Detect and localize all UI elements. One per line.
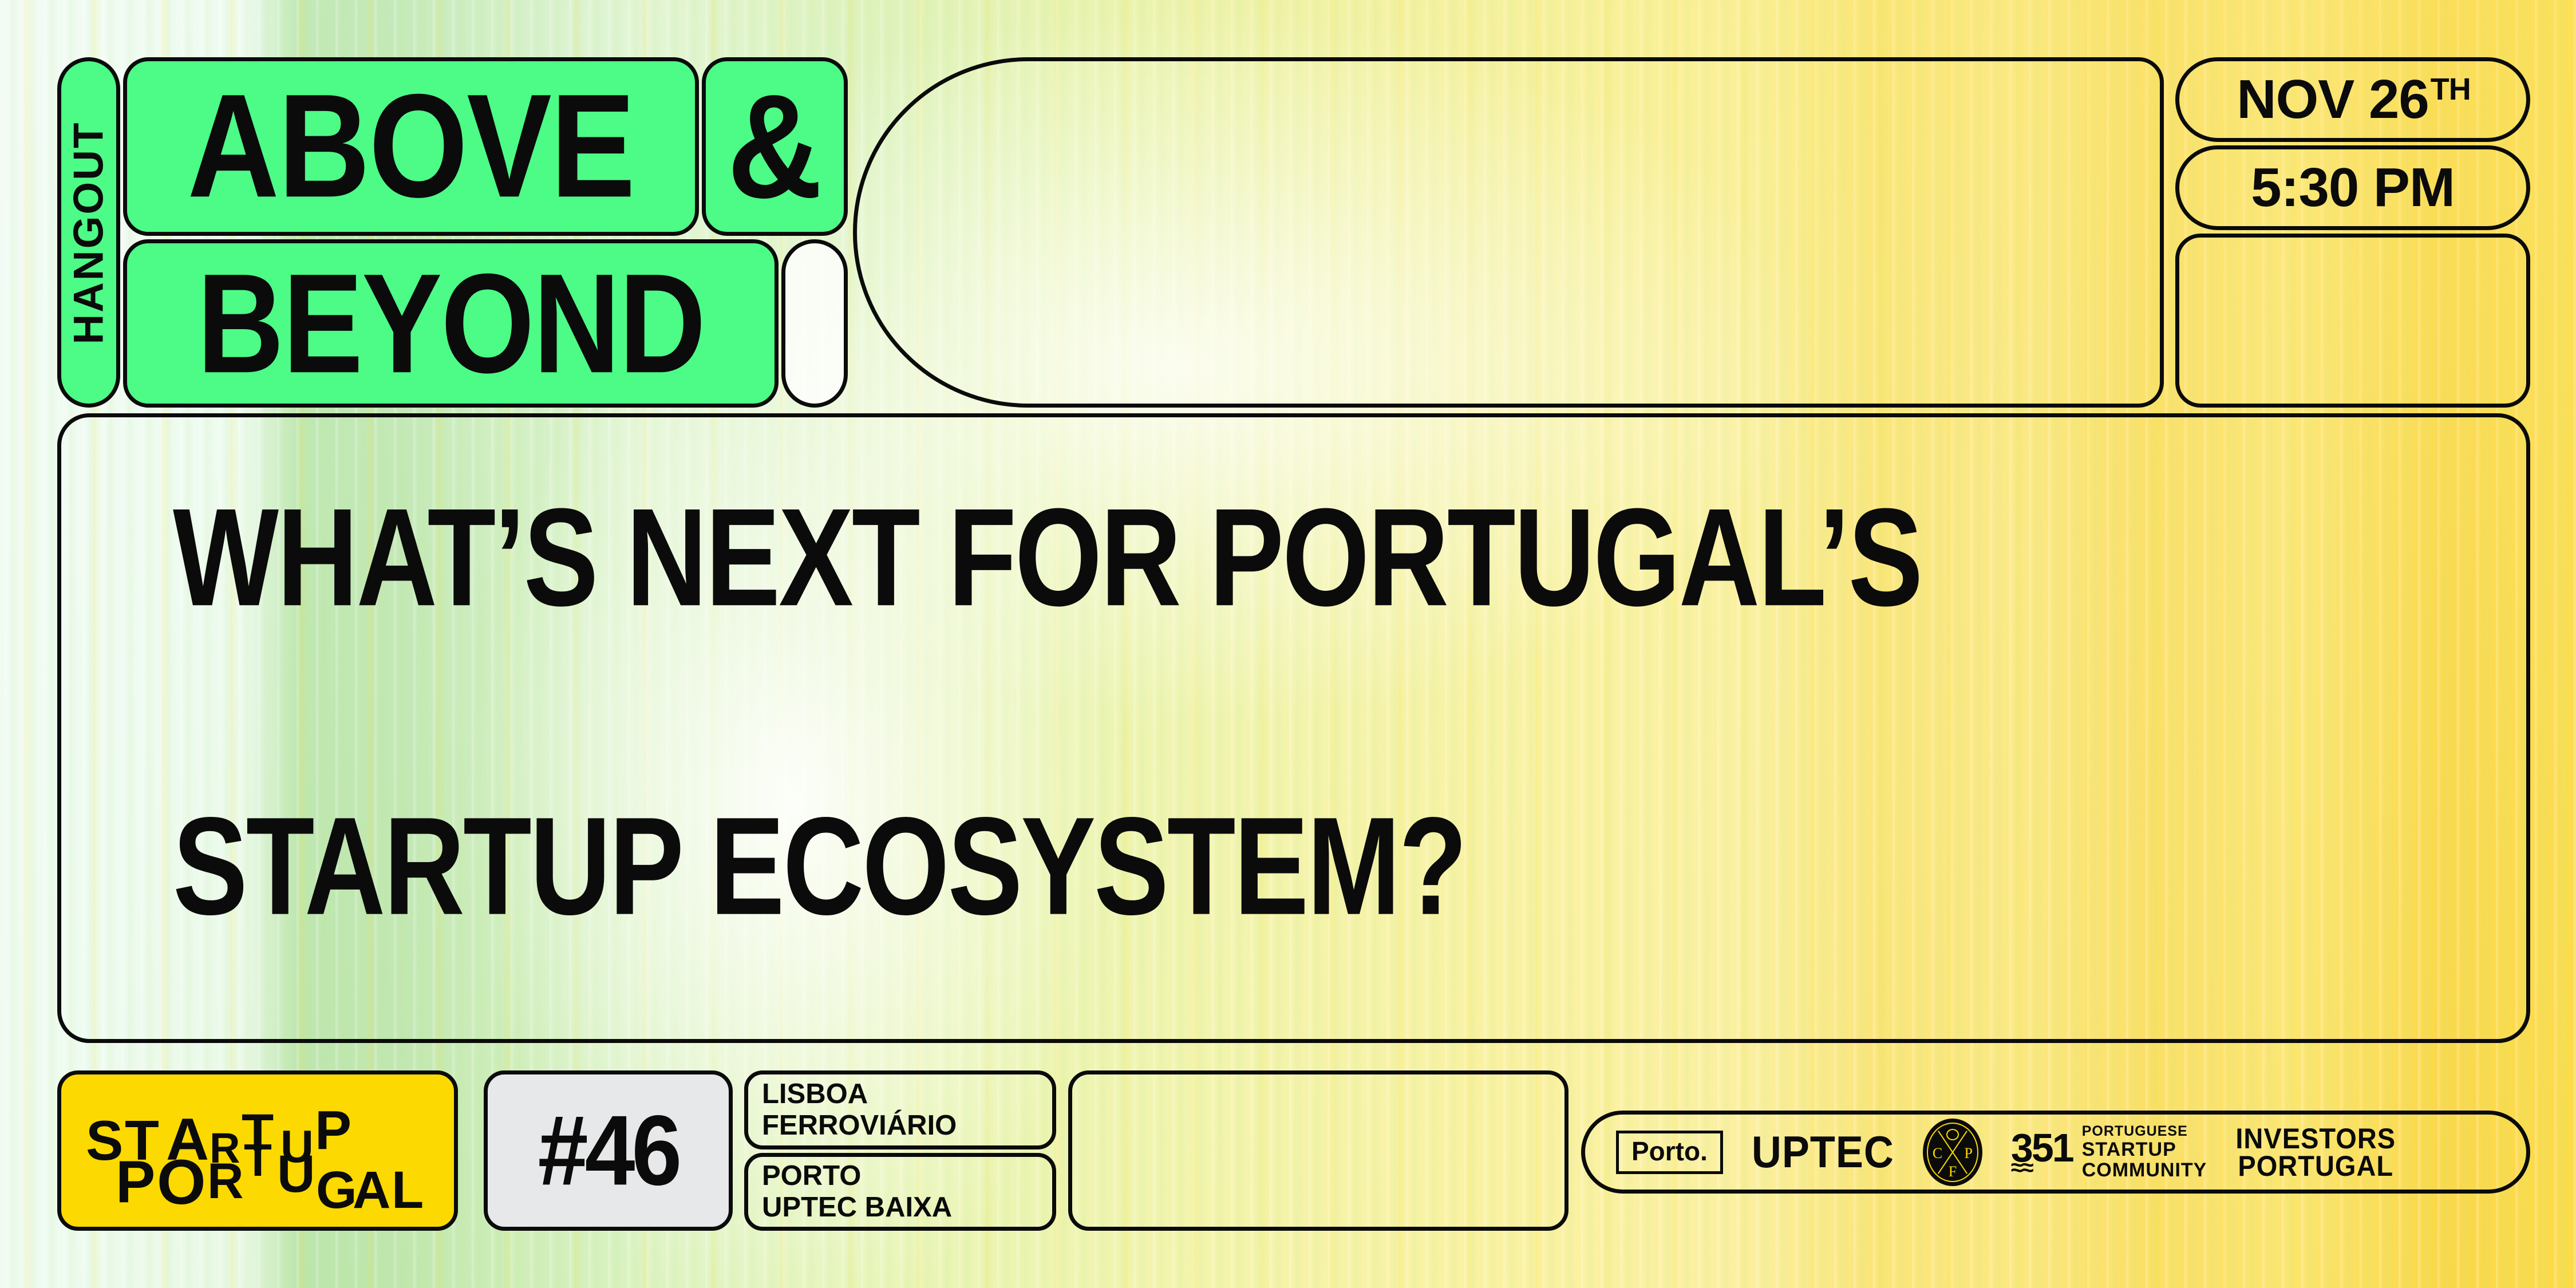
venue-place: FERROVIÁRIO <box>762 1110 1052 1141</box>
venue-lisboa: LISBOA FERROVIÁRIO <box>744 1070 1056 1149</box>
poster-canvas: HANGOUT ABOVE & BEYOND NOV 26TH 5:30 PM <box>0 0 2576 1288</box>
main-headline-panel: WHAT’S NEXT FOR PORTUGAL’S STARTUP ECOSY… <box>57 413 2530 1043</box>
startup-portugal-wordmark: S T A R T U P P O R T U G A L <box>86 1096 429 1205</box>
headline-line-2: STARTUP ECOSYSTEM? <box>173 788 1465 944</box>
wordmark-letter: R <box>207 1156 244 1206</box>
title-above-box: ABOVE <box>123 57 699 236</box>
cpf-letter: F <box>1949 1164 1957 1179</box>
wordmark-letter: A <box>353 1164 390 1216</box>
event-date-pill: NOV 26TH <box>2175 57 2530 142</box>
edition-number-box: #46 <box>484 1070 733 1231</box>
main-headline: WHAT’S NEXT FOR PORTUGAL’S STARTUP ECOSY… <box>173 480 1921 943</box>
hangout-label: HANGOUT <box>65 121 113 344</box>
title-above-label: ABOVE <box>188 73 635 220</box>
351-wordmark: PORTUGUESE STARTUP COMMUNITY <box>2082 1124 2207 1180</box>
wordmark-letter: P <box>116 1152 155 1212</box>
event-time-pill: 5:30 PM <box>2175 145 2530 230</box>
event-date: NOV 26TH <box>2237 72 2468 127</box>
venue-porto: PORTO UPTEC BAIXA <box>744 1153 1056 1231</box>
event-date-suffix: TH <box>2431 74 2471 105</box>
sponsor-351-logo: 351 ≈≈ PORTUGUESE STARTUP COMMUNITY <box>2011 1124 2207 1180</box>
headline-line-1: WHAT’S NEXT FOR PORTUGAL’S <box>173 480 1921 635</box>
title-ampersand-box: & <box>702 57 848 236</box>
wordmark-letter: U <box>277 1148 315 1200</box>
startup-portugal-logo: S T A R T U P P O R T U G A L <box>57 1070 458 1231</box>
351-numeral: 351 <box>2011 1131 2073 1165</box>
footer-spacer-box <box>1068 1070 1568 1231</box>
sponsor-investors-portugal-logo: INVESTORS PORTUGAL <box>2235 1125 2396 1180</box>
sponsor-bar: Porto. UPTEC C P F 351 ≈≈ PORTUGUESE STA… <box>1581 1111 2530 1194</box>
351-numeral-block: 351 ≈≈ <box>2011 1131 2073 1173</box>
venue-city: LISBOA <box>762 1078 1052 1110</box>
wordmark-letter: G <box>316 1164 357 1216</box>
sponsor-uptec-logo: UPTEC <box>1752 1127 1894 1178</box>
header-panel <box>853 57 2164 408</box>
header-spacer-box <box>2175 234 2530 408</box>
investors-line-1: INVESTORS <box>2235 1124 2396 1153</box>
351-line-1: PORTUGUESE <box>2082 1124 2207 1139</box>
cpf-letter: C <box>1933 1146 1942 1161</box>
wordmark-letter: L <box>392 1164 424 1216</box>
edition-number: #46 <box>538 1101 679 1200</box>
351-line-3: COMMUNITY <box>2082 1160 2207 1180</box>
title-beyond-box: BEYOND <box>123 239 779 408</box>
sponsor-porto-logo: Porto. <box>1616 1131 1723 1174</box>
event-date-text: NOV 26 <box>2237 72 2428 127</box>
351-line-2: STARTUP <box>2082 1139 2207 1160</box>
wordmark-letter: O <box>157 1151 206 1214</box>
investors-line-2: PORTUGAL <box>2235 1151 2396 1180</box>
title-beyond-label: BEYOND <box>197 252 705 394</box>
title-ampersand-label: & <box>727 73 822 220</box>
venue-place: UPTEC BAIXA <box>762 1192 1052 1223</box>
title-beyond-tail-pill <box>781 239 848 408</box>
venue-city: PORTO <box>762 1160 1052 1192</box>
event-time: 5:30 PM <box>2251 160 2455 215</box>
sponsor-cpf-icon: C P F <box>1923 1119 1982 1186</box>
wordmark-letter: T <box>244 1137 272 1183</box>
hangout-badge: HANGOUT <box>57 57 120 408</box>
wordmark-letter: P <box>315 1103 351 1158</box>
cpf-letter: P <box>1964 1146 1972 1161</box>
